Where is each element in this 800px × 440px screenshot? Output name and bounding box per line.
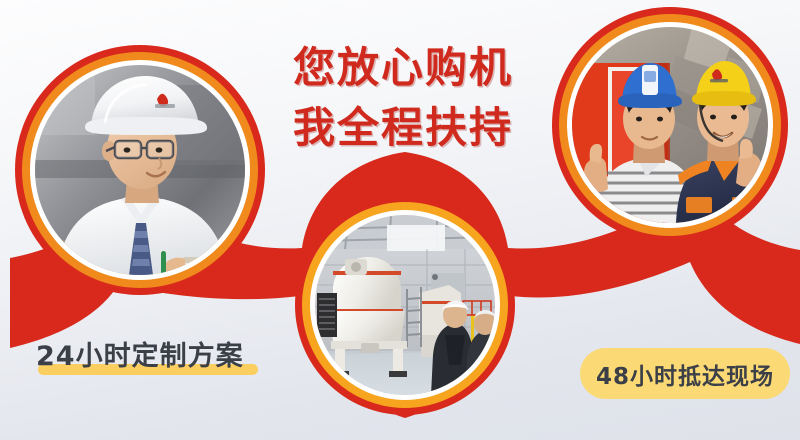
label-48h-onsite-text: 48小时抵达现场 <box>596 357 774 391</box>
label-24h-custom-plan: 24小时定制方案 <box>36 338 244 376</box>
circle-right-photo <box>572 27 768 223</box>
headline: 您放心购机 我全程扶持 <box>293 38 543 158</box>
headline-line-2: 我全程扶持 <box>293 98 543 158</box>
circle-left-photo <box>35 65 245 275</box>
label-24h-custom-plan-text: 24小时定制方案 <box>36 338 244 376</box>
circle-center-photo <box>315 215 495 395</box>
headline-line-1: 您放心购机 <box>293 38 543 98</box>
label-48h-onsite-pill: 48小时抵达现场 <box>580 348 790 399</box>
promo-banner: 您放心购机 我全程扶持 24小时定制方案 48小时抵达现场 <box>0 0 800 440</box>
